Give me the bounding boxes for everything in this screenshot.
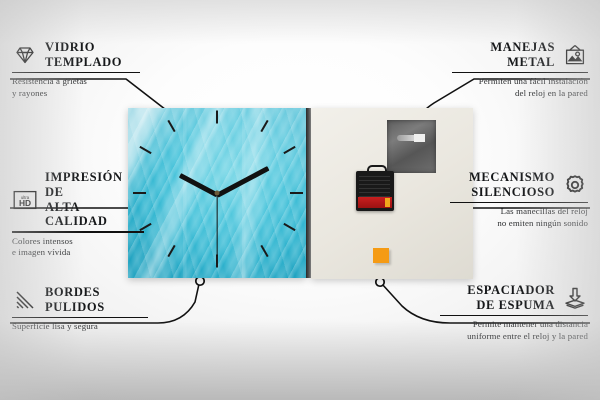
callout-title-row: MECANISMO SILENCIOSO (450, 170, 588, 200)
callout-desc-line1: Permite mantener una distancia (440, 319, 588, 331)
callout-desc: Permite mantener una distancia uniforme … (440, 319, 588, 343)
callout-title-row: BORDES PULIDOS (12, 285, 148, 315)
callout-desc-line2: e imagen vívida (12, 247, 144, 259)
callout-manejas-metal: MANEJAS METAL Permiten una fácil instala… (452, 40, 588, 100)
hanging-frame-icon (562, 43, 588, 67)
callout-title: MECANISMO SILENCIOSO (469, 170, 555, 200)
callout-rule (12, 231, 144, 233)
svg-text:HD: HD (19, 198, 31, 208)
callout-desc: Superficie lisa y segura (12, 321, 148, 333)
callout-desc-line2: no emiten ningún sonido (450, 218, 588, 230)
callout-rule (452, 72, 588, 74)
callout-bordes-pulidos: BORDES PULIDOS Superficie lisa y segura (12, 285, 148, 333)
callout-title-line1: BORDES (45, 285, 105, 300)
callout-title-line1: MANEJAS (490, 40, 555, 55)
callout-title-line1: IMPRESIÓN DE (45, 170, 144, 200)
callout-mecanismo-silencioso: MECANISMO SILENCIOSO Las manecillas del … (450, 170, 588, 230)
clock-tick (290, 192, 303, 194)
callout-desc: Permiten una fácil instalación del reloj… (452, 76, 588, 100)
callout-rule (12, 317, 148, 319)
callout-rule (450, 202, 588, 204)
clock-tick (216, 111, 218, 124)
callout-title: BORDES PULIDOS (45, 285, 105, 315)
callout-desc-line2: y rayones (12, 88, 140, 100)
callout-title: VIDRIO TEMPLADO (45, 40, 122, 70)
clock-center-hub (215, 191, 220, 196)
callout-espaciador-espuma: ESPACIADOR DE ESPUMA Permite mantener un… (440, 283, 588, 343)
clock-mechanism-box (356, 171, 394, 211)
callout-title-row: MANEJAS METAL (452, 40, 588, 70)
callout-title-line2: PULIDOS (45, 300, 105, 315)
product-infographic: VIDRIO TEMPLADO Resistencia a grietas y … (0, 0, 600, 400)
callout-title-line2: DE ESPUMA (467, 298, 555, 313)
callout-desc-line1: Las manecillas del reloj (450, 206, 588, 218)
callout-desc-line1: Permiten una fácil instalación (452, 76, 588, 88)
callout-title-line2: TEMPLADO (45, 55, 122, 70)
callout-vidrio-templado: VIDRIO TEMPLADO Resistencia a grietas y … (12, 40, 140, 100)
battery (358, 197, 392, 208)
callout-desc-line1: Resistencia a grietas (12, 76, 140, 88)
callout-title: IMPRESIÓN DE ALTA CALIDAD (45, 170, 144, 229)
clock-face-front (128, 108, 306, 278)
clock-tick (216, 255, 218, 268)
callout-title: MANEJAS METAL (490, 40, 555, 70)
callout-title-line2: METAL (490, 55, 555, 70)
callout-desc-line2: uniforme entre el reloj y la pared (440, 331, 588, 343)
callout-rule (12, 72, 140, 74)
mechanism-texture (359, 176, 390, 198)
callout-title-line1: ESPACIADOR (467, 283, 555, 298)
battery-terminal (385, 198, 390, 207)
clock-second-hand (216, 194, 217, 256)
diamond-icon (12, 43, 38, 67)
product-image (128, 108, 473, 280)
polished-edge-icon (12, 288, 38, 312)
clock-back-panel (311, 108, 473, 279)
callout-title-line2: SILENCIOSO (469, 185, 555, 200)
callout-desc: Colores intensos e imagen vívida (12, 236, 144, 260)
callout-title-line2: ALTA CALIDAD (45, 200, 144, 230)
callout-desc-line2: del reloj en la pared (452, 88, 588, 100)
mechanism-hook (367, 165, 387, 176)
foam-spacer-pad (373, 248, 389, 263)
callout-title: ESPACIADOR DE ESPUMA (467, 283, 555, 313)
callout-title-row: VIDRIO TEMPLADO (12, 40, 140, 70)
callout-title-line1: MECANISMO (469, 170, 555, 185)
callout-desc: Resistencia a grietas y rayones (12, 76, 140, 100)
callout-desc-line1: Superficie lisa y segura (12, 321, 148, 333)
ultra-hd-icon: ultra HD (12, 188, 38, 212)
metal-hanger-plate (387, 120, 436, 173)
callout-desc: Las manecillas del reloj no emiten ningú… (450, 206, 588, 230)
callout-title-row: ESPACIADOR DE ESPUMA (440, 283, 588, 313)
callout-title-row: ultra HD IMPRESIÓN DE ALTA CALIDAD (12, 170, 144, 229)
hanger-keyhole-slot (397, 135, 424, 141)
callout-desc-line1: Colores intensos (12, 236, 144, 248)
callout-title-line1: VIDRIO (45, 40, 122, 55)
callout-impresion-alta-calidad: ultra HD IMPRESIÓN DE ALTA CALIDAD Color… (12, 170, 144, 259)
foam-spacer-icon (562, 286, 588, 310)
gear-icon (562, 173, 588, 197)
callout-rule (440, 315, 588, 317)
